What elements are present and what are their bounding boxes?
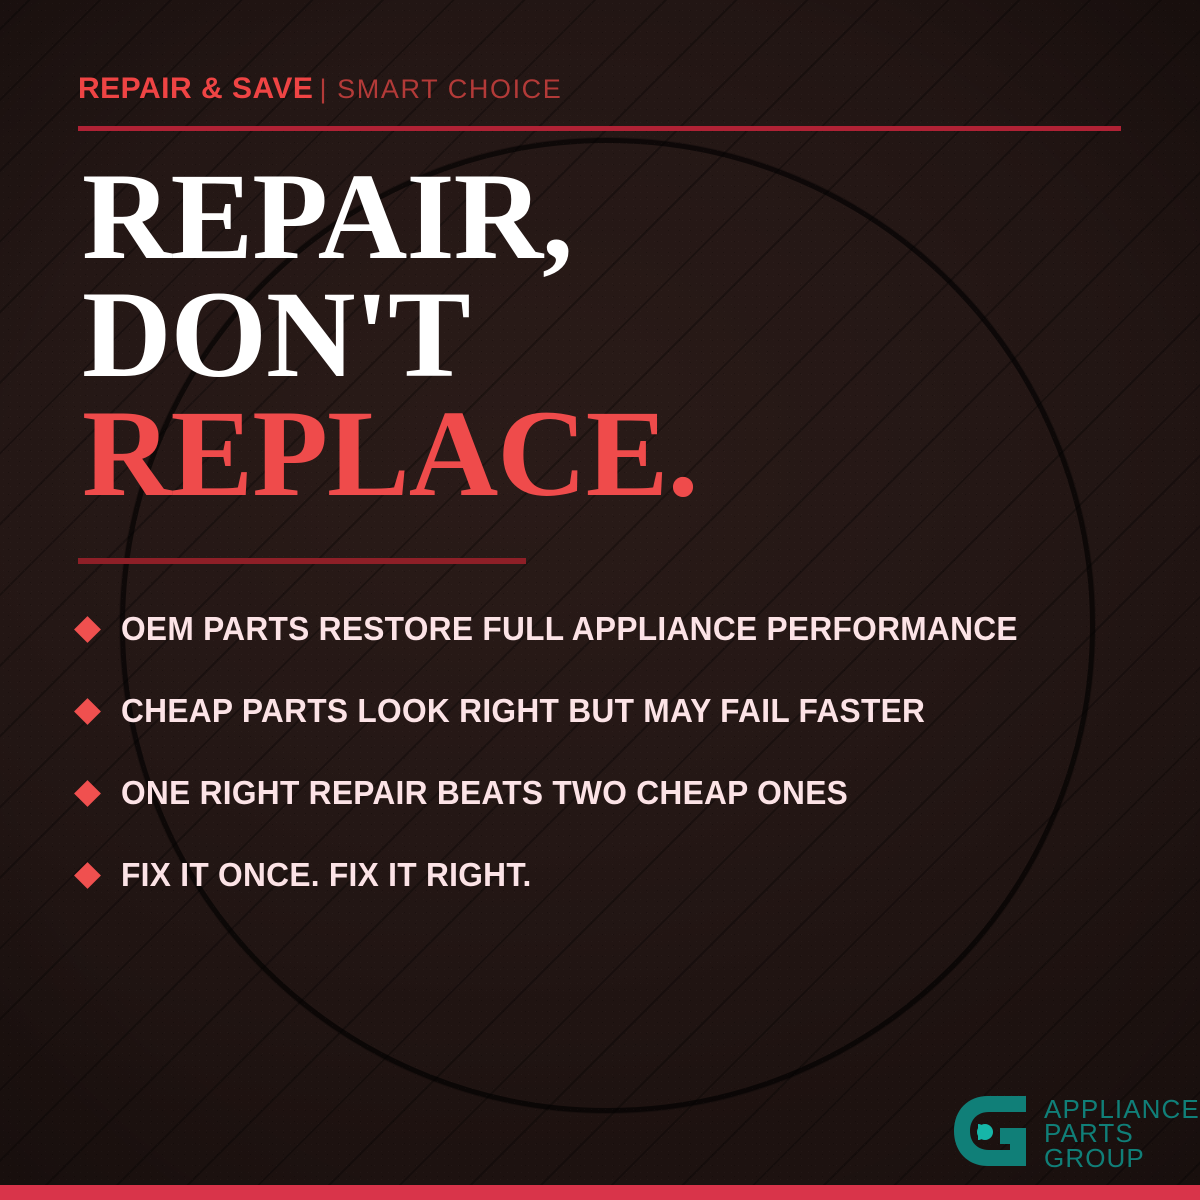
diamond-bullet-icon [74, 616, 101, 643]
kicker-light-label: | SMART CHOICE [319, 74, 562, 104]
list-item-label: ONE RIGHT REPAIR BEATS TWO CHEAP ONES [121, 774, 848, 812]
diamond-bullet-icon [74, 780, 101, 807]
diamond-bullet-icon [74, 698, 101, 725]
headline-divider [78, 558, 526, 564]
list-item-label: OEM PARTS RESTORE FULL APPLIANCE PERFORM… [121, 610, 1018, 648]
diamond-bullet-icon [74, 862, 101, 889]
brand-logo: APPLIANCE PARTS GROUP [948, 1088, 1200, 1179]
list-item: FIX IT ONCE. FIX IT RIGHT. [78, 834, 1158, 916]
list-item-label: CHEAP PARTS LOOK RIGHT BUT MAY FAIL FAST… [121, 692, 925, 730]
headline-line-2: DON'T [82, 276, 698, 394]
list-item-label: FIX IT ONCE. FIX IT RIGHT. [121, 856, 532, 894]
list-item: OEM PARTS RESTORE FULL APPLIANCE PERFORM… [78, 588, 1158, 670]
promo-poster: REPAIR & SAVE| SMART CHOICE REPAIR, DON'… [0, 0, 1200, 1200]
header-divider [78, 126, 1121, 131]
list-item: ONE RIGHT REPAIR BEATS TWO CHEAP ONES [78, 752, 1158, 834]
list-item: CHEAP PARTS LOOK RIGHT BUT MAY FAIL FAST… [78, 670, 1158, 752]
bottom-accent-strip [0, 1185, 1200, 1200]
headline-line-3: REPLACE. [82, 395, 698, 513]
kicker: REPAIR & SAVE| SMART CHOICE [78, 74, 562, 104]
appliance-parts-group-g-icon [948, 1088, 1032, 1179]
benefits-list: OEM PARTS RESTORE FULL APPLIANCE PERFORM… [78, 588, 1158, 916]
page-title: REPAIR, DON'T REPLACE. [82, 158, 698, 513]
kicker-strong-label: REPAIR & SAVE [78, 72, 313, 105]
brand-line-3: GROUP [1044, 1146, 1200, 1170]
headline-line-1: REPAIR, [82, 158, 698, 276]
brand-logo-wordmark: APPLIANCE PARTS GROUP [1044, 1097, 1200, 1170]
